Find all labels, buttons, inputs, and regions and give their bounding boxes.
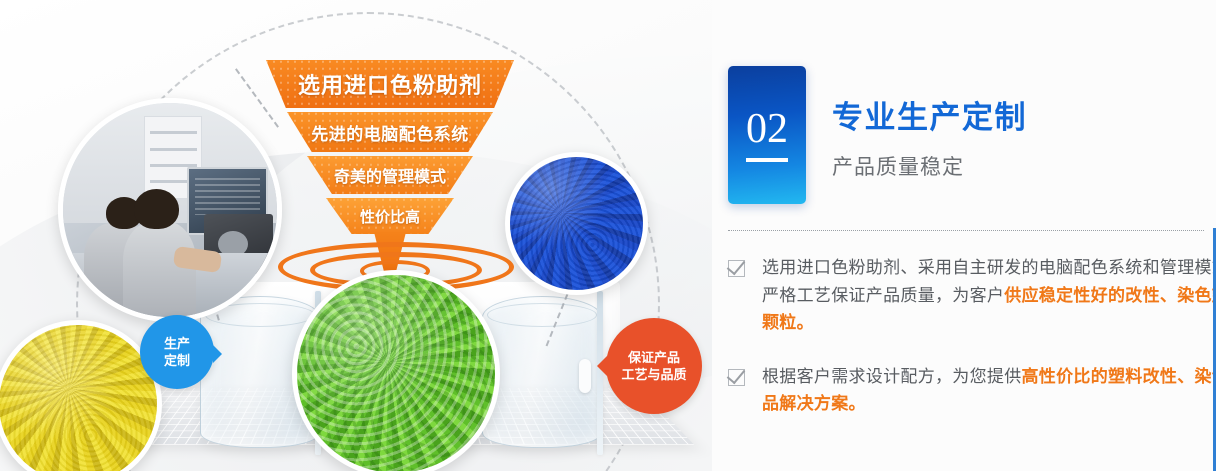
section-header: 02 专业生产定制 产品质量稳定 [728,66,1027,204]
list-item: 根据客户需求设计配方，为您提供高性价比的塑料改性、染色产 品解决方案。 [728,363,1216,418]
process-funnel: 选用进口色粉助剂 先进的电脑配色系统 奇美的管理模式 性价比高 [266,60,514,250]
callout-line-2: 工艺与品质 [621,366,686,383]
page-title: 专业生产定制 [832,92,1027,137]
glass-cylinder-right [482,296,602,448]
dotted-divider [728,230,1204,231]
bullet-line-2-emphasis: 品解决方案。 [762,394,866,413]
blue-pigment-powder [505,152,648,295]
technician-two-head [134,189,179,230]
callout-line-1: 生产 [164,335,190,352]
funnel-tier-1: 选用进口色粉助剂 [266,60,514,108]
section-heading-text: 专业生产定制 产品质量稳定 [832,66,1027,181]
cylinder-handle [579,359,591,393]
callout-line-1: 保证产品 [628,349,680,366]
yellow-pigment-powder [0,320,162,471]
page-subtitle: 产品质量稳定 [832,151,1027,181]
callout-line-2: 定制 [164,352,190,369]
list-item: 选用进口色粉助剂、采用自主研发的电脑配色系统和管理模式， 严格工艺保证产品质量，… [728,254,1216,337]
feature-bullet-list: 选用进口色粉助剂、采用自主研发的电脑配色系统和管理模式， 严格工艺保证产品质量，… [728,254,1216,444]
checkbox-check-icon [728,369,746,387]
funnel-tier-2: 先进的电脑配色系统 [287,112,493,152]
section-number: 02 [746,108,788,162]
promo-banner: 选用进口色粉助剂 先进的电脑配色系统 奇美的管理模式 性价比高 生产 定制 保证… [0,0,1216,471]
lab-technicians-photo [58,98,282,322]
callout-production-custom: 生产 定制 [140,315,214,389]
funnel-tier-3: 奇美的管理模式 [307,156,473,194]
green-plastic-pellets [292,270,500,471]
bullet-line-2-plain: 严格工艺保证产品质量，为客户 [762,286,1004,305]
bullet-line-3-emphasis: 颗粒。 [762,313,814,332]
section-number-badge: 02 [728,66,806,204]
funnel-tier-4: 性价比高 [326,198,454,234]
callout-quality-guarantee: 保证产品 工艺与品质 [606,318,702,414]
checkbox-check-icon [728,260,746,278]
bullet-line-2-emphasis: 供应稳定性好的改性、染色塑料 [1004,286,1216,305]
bullet-line-1: 选用进口色粉助剂、采用自主研发的电脑配色系统和管理模式， [762,258,1216,277]
bullet-text: 根据客户需求设计配方，为您提供高性价比的塑料改性、染色产 品解决方案。 [762,363,1216,418]
cylinder-rim [487,303,597,327]
illustration-panel: 选用进口色粉助剂 先进的电脑配色系统 奇美的管理模式 性价比高 生产 定制 保证… [0,0,712,471]
bullet-line-1-plain: 根据客户需求设计配方，为您提供 [762,367,1022,386]
bullet-text: 选用进口色粉助剂、采用自主研发的电脑配色系统和管理模式， 严格工艺保证产品质量，… [762,254,1216,337]
content-panel: 02 专业生产定制 产品质量稳定 选用进口色粉助剂、采用自主研发的电脑配色系统和… [712,0,1216,471]
bullet-line-1-emphasis: 高性价比的塑料改性、染色产 [1022,367,1216,386]
